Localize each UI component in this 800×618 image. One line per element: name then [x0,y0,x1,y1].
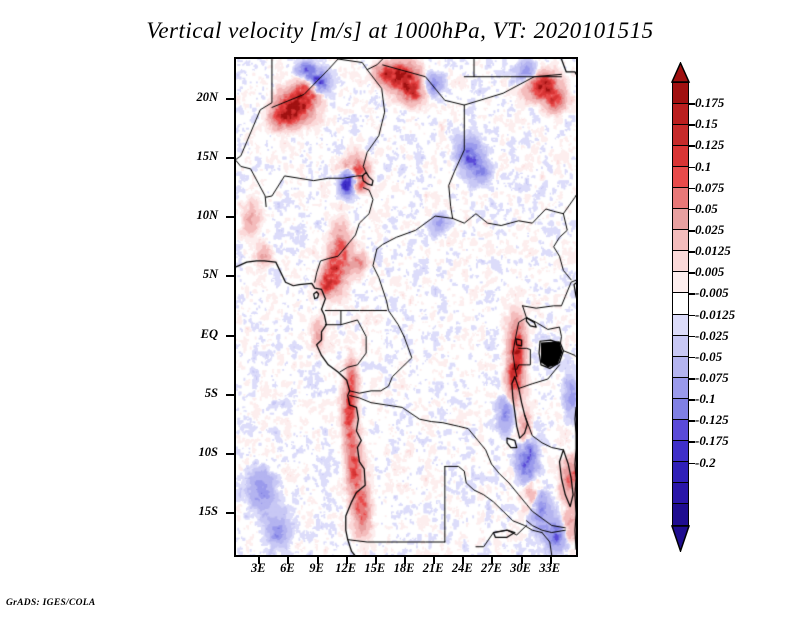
colorbar-tick-mark [689,272,695,274]
x-axis-tick-mark [433,557,435,564]
colorbar-tick-label: -0.005 [695,285,729,301]
colorbar-tick-label: -0.075 [695,370,729,386]
y-axis-tick-mark [226,98,234,100]
colorbar-tick-mark [689,336,695,338]
colorbar-tick-label: -0.1 [695,391,716,407]
colorbar-tick-mark [689,357,695,359]
page-title: Vertical velocity [m/s] at 1000hPa, VT: … [0,18,800,44]
colorbar-swatch [673,357,688,378]
colorbar-swatch [673,504,688,525]
y-axis-tick-label: EQ [201,327,218,342]
colorbar-tick-mark [689,378,695,380]
colorbar-tick-mark [689,209,695,211]
colorbar-tick-label: -0.125 [695,412,729,428]
colorbar-tick-mark [689,251,695,253]
x-axis-tick-mark [404,557,406,564]
colorbar-tick-label: 0.175 [695,95,724,111]
colorbar-swatch [673,125,688,146]
y-axis-tick-mark [226,394,234,396]
colorbar-tick-label: 0.125 [695,137,724,153]
colorbar-swatch [673,378,688,399]
x-axis-tick-mark [287,557,289,564]
colorbar-tick-mark [689,293,695,295]
colorbar-max-arrow-icon [670,62,691,83]
y-axis-tick-mark [226,157,234,159]
colorbar-tick-label: 0.15 [695,116,718,132]
colorbar-swatch [673,104,688,125]
colorbar-swatch [673,293,688,314]
colorbar-tick-mark [689,188,695,190]
vertical-velocity-field [236,59,576,555]
x-axis-tick-mark [346,557,348,564]
grads-attribution: GrADS: IGES/COLA [6,598,96,608]
x-axis-tick-mark [462,557,464,564]
y-axis-tick-mark [226,275,234,277]
colorbar-swatch [673,272,688,293]
colorbar-tick-label: -0.05 [695,349,722,365]
x-axis-tick-mark [375,557,377,564]
colorbar-tick-label: 0.005 [695,264,724,280]
x-axis-tick-mark [550,557,552,564]
colorbar-swatch [673,315,688,336]
y-axis-tick-label: 10N [196,208,218,223]
colorbar-tick-label: -0.175 [695,433,729,449]
map-plot-frame [234,57,578,557]
colorbar-swatch [673,336,688,357]
colorbar-swatch [673,188,688,209]
colorbar-swatch [673,209,688,230]
colorbar-tick-label: -0.2 [695,455,716,471]
colorbar-min-arrow-icon [670,525,691,552]
colorbar-tick-mark [689,315,695,317]
colorbar-swatch [673,483,688,504]
colorbar-tick-mark [689,124,695,126]
colorbar-tick-mark [689,399,695,401]
colorbar-tick-mark [689,441,695,443]
colorbar-tick-label: 0.1 [695,159,711,175]
colorbar-tick-mark [689,463,695,465]
colorbar-tick-label: -0.025 [695,328,729,344]
colorbar-swatch [673,462,688,483]
y-axis-tick-mark [226,335,234,337]
colorbar-tick-mark [689,230,695,232]
x-axis-tick-mark [317,557,319,564]
colorbar-tick-label: 0.05 [695,201,718,217]
y-axis-tick-mark [226,216,234,218]
colorbar-tick-label: -0.0125 [695,307,735,323]
colorbar-swatch [673,441,688,462]
x-axis-tick-mark [521,557,523,564]
colorbar-tick-label: 0.025 [695,222,724,238]
colorbar-swatch [673,230,688,251]
colorbar-swatch [673,167,688,188]
colorbar-tick-label: 0.075 [695,180,724,196]
colorbar-tick-mark [689,167,695,169]
colorbar-tick-label: 0.0125 [695,243,731,259]
colorbar-swatch [673,420,688,441]
y-axis-tick-label: 15S [199,504,218,519]
x-axis-tick-mark [258,557,260,564]
x-axis-tick-mark [491,557,493,564]
colorbar-tick-mark [689,145,695,147]
colorbar-tick-mark [689,103,695,105]
colorbar-swatch [673,83,688,104]
y-axis-tick-label: 15N [196,149,218,164]
colorbar-swatch [673,399,688,420]
y-axis-tick-label: 20N [196,90,218,105]
y-axis-tick-mark [226,453,234,455]
colorbar-tick-mark [689,420,695,422]
colorbar-swatch [673,251,688,272]
y-axis-tick-label: 10S [199,445,218,460]
y-axis-tick-label: 5N [203,267,218,282]
y-axis-tick-label: 5S [205,386,218,401]
colorbar-swatch [673,146,688,167]
colorbar [672,82,689,526]
y-axis-tick-mark [226,512,234,514]
